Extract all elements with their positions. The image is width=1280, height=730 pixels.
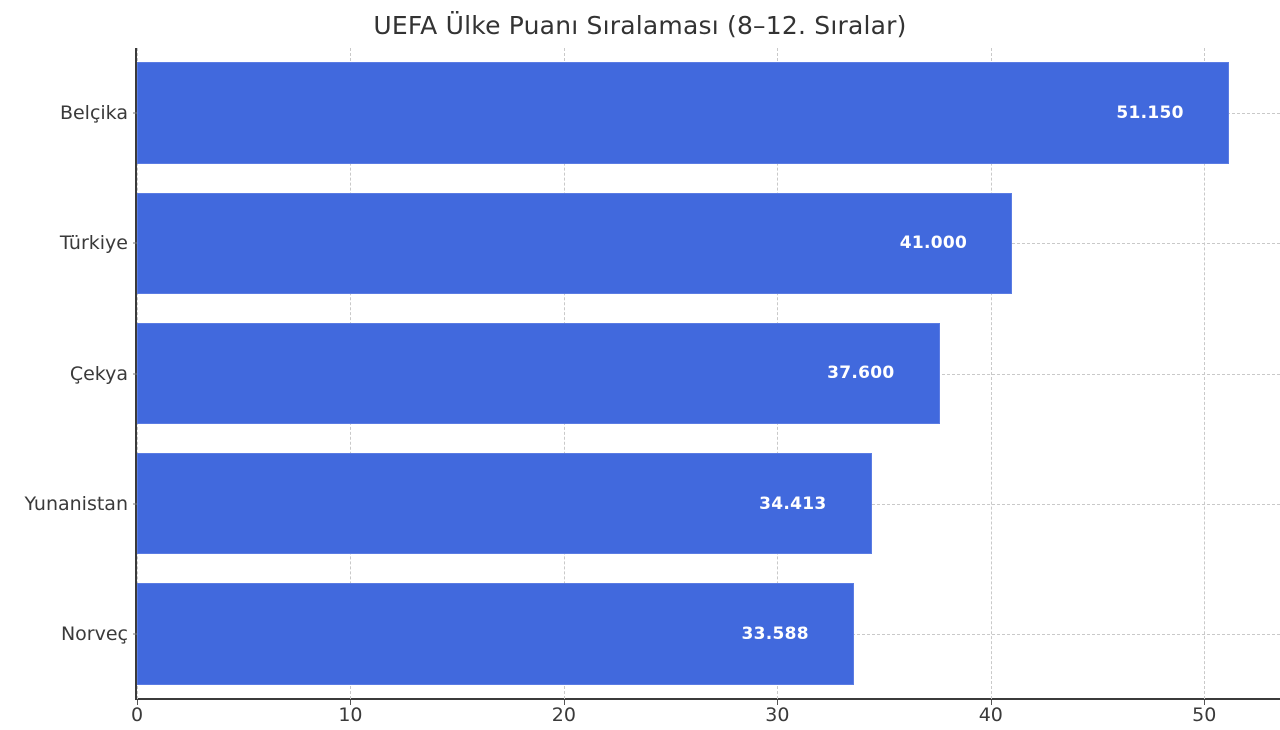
x-tick-label-30: 30 (765, 704, 789, 726)
bar-chart-figure: UEFA Ülke Puanı Sıralaması (8–12. Sırala… (0, 0, 1280, 730)
plot-area: 51.15041.00037.60034.41333.588 BelçikaTü… (137, 48, 1280, 699)
bar-row[interactable]: 34.413 (137, 453, 1280, 555)
bar-value-label: 37.600 (827, 363, 894, 383)
y-tick-mark (133, 633, 137, 634)
y-tick-label-norveç: Norveç (61, 623, 128, 645)
y-tick-mark (133, 373, 137, 374)
bar[interactable] (137, 62, 1229, 164)
bar-row[interactable]: 37.600 (137, 323, 1280, 425)
x-tick-label-0: 0 (131, 704, 143, 726)
bar-value-label: 33.588 (742, 624, 809, 644)
bar-row[interactable]: 33.588 (137, 583, 1280, 685)
y-tick-label-yunanistan: Yunanistan (24, 493, 128, 515)
x-tick-label-50: 50 (1192, 704, 1216, 726)
y-tick-label-çekya: Çekya (70, 363, 128, 385)
bar-value-label: 34.413 (759, 494, 826, 514)
chart-title: UEFA Ülke Puanı Sıralaması (8–12. Sırala… (0, 11, 1280, 40)
y-tick-label-belçika: Belçika (60, 102, 128, 124)
bar-value-label: 41.000 (900, 233, 967, 253)
bar-row[interactable]: 41.000 (137, 193, 1280, 295)
y-tick-mark (133, 113, 137, 114)
bar[interactable] (137, 193, 1012, 295)
x-tick-label-40: 40 (979, 704, 1003, 726)
bar[interactable] (137, 323, 940, 425)
bar-row[interactable]: 51.150 (137, 62, 1280, 164)
bar-value-label: 51.150 (1116, 103, 1183, 123)
y-tick-mark (133, 503, 137, 504)
y-tick-label-türkiye: Türkiye (60, 232, 128, 254)
y-tick-mark (133, 243, 137, 244)
x-tick-label-20: 20 (552, 704, 576, 726)
x-tick-label-10: 10 (338, 704, 362, 726)
